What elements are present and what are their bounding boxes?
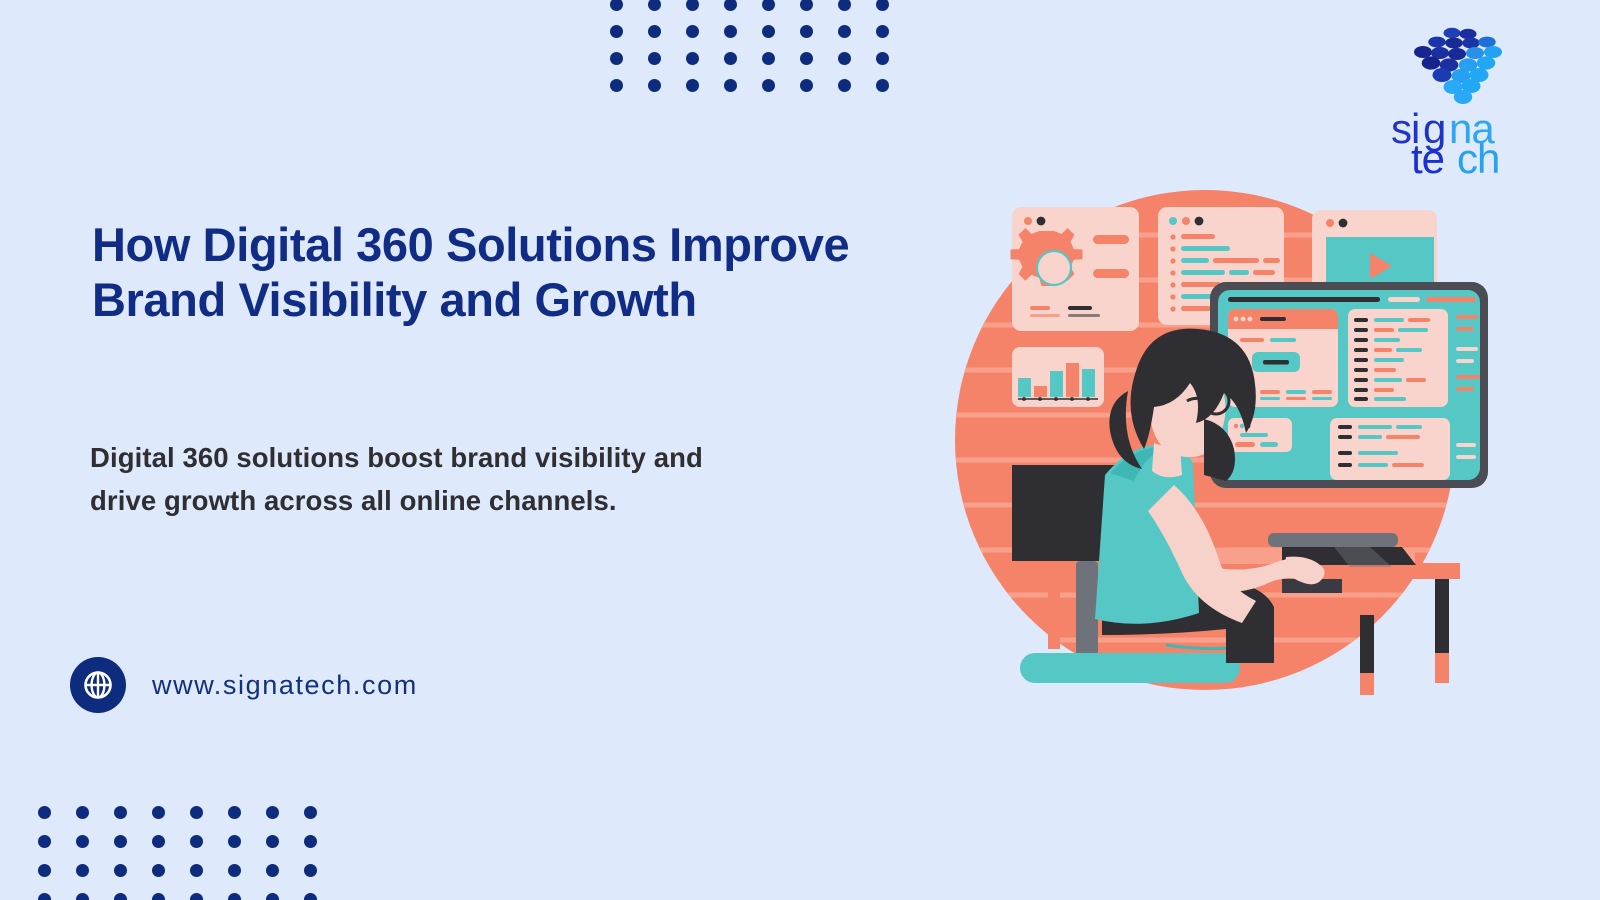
dot xyxy=(152,864,165,877)
dot xyxy=(838,0,851,11)
dot xyxy=(266,893,279,900)
dot xyxy=(838,79,851,92)
dot xyxy=(152,893,165,900)
dot xyxy=(38,864,51,877)
dot xyxy=(228,806,241,819)
dot xyxy=(724,0,737,11)
dot xyxy=(724,79,737,92)
headline-line-2: Brand Visibility and Growth xyxy=(92,273,912,328)
dot xyxy=(38,893,51,900)
dot xyxy=(76,806,89,819)
dot xyxy=(152,806,165,819)
subheading-text: Digital 360 solutions boost brand visibi… xyxy=(90,437,740,522)
dot xyxy=(76,835,89,848)
hero-illustration xyxy=(930,175,1490,705)
dot-grid-top xyxy=(610,0,914,106)
dot xyxy=(228,864,241,877)
dot xyxy=(686,25,699,38)
website-link[interactable]: www.signatech.com xyxy=(70,657,418,713)
dot xyxy=(800,79,813,92)
dot xyxy=(114,835,127,848)
dot xyxy=(114,806,127,819)
dot xyxy=(266,864,279,877)
dot xyxy=(686,52,699,65)
page-title: How Digital 360 Solutions Improve Brand … xyxy=(92,218,912,328)
dot xyxy=(762,79,775,92)
dot xyxy=(800,25,813,38)
dot xyxy=(114,893,127,900)
dot xyxy=(876,0,889,11)
globe-icon xyxy=(70,657,126,713)
dot xyxy=(800,52,813,65)
headline-line-1: How Digital 360 Solutions Improve xyxy=(92,218,912,273)
dot xyxy=(304,806,317,819)
dot xyxy=(76,893,89,900)
dot xyxy=(610,25,623,38)
dot xyxy=(76,864,89,877)
dot xyxy=(610,52,623,65)
dot xyxy=(38,806,51,819)
dot xyxy=(228,893,241,900)
dot xyxy=(724,25,737,38)
dot xyxy=(190,864,203,877)
dot xyxy=(648,79,661,92)
dot xyxy=(686,79,699,92)
dot xyxy=(190,806,203,819)
dot xyxy=(838,25,851,38)
dot xyxy=(190,893,203,900)
dot xyxy=(686,0,699,11)
brand-logo[interactable]: si g na te ch xyxy=(1385,25,1535,175)
dot xyxy=(304,835,317,848)
dot xyxy=(762,25,775,38)
dot xyxy=(724,52,737,65)
dot xyxy=(114,864,127,877)
dot xyxy=(152,835,165,848)
settings-card xyxy=(1011,207,1140,331)
dot xyxy=(304,864,317,877)
dot xyxy=(648,0,661,11)
dot xyxy=(266,806,279,819)
analytics-card xyxy=(1012,347,1104,407)
website-url-text[interactable]: www.signatech.com xyxy=(152,670,418,701)
dot xyxy=(876,52,889,65)
marketing-banner: How Digital 360 Solutions Improve Brand … xyxy=(0,0,1600,900)
dot xyxy=(190,835,203,848)
dot xyxy=(648,25,661,38)
dot-grid-bottom xyxy=(38,806,342,900)
dot xyxy=(610,79,623,92)
dot xyxy=(876,79,889,92)
dot xyxy=(610,0,623,11)
logo-dot-pyramid-icon xyxy=(1385,25,1535,111)
dot xyxy=(762,52,775,65)
dot xyxy=(38,835,51,848)
dot xyxy=(304,893,317,900)
dot xyxy=(876,25,889,38)
logo-wordmark: si g na te ch xyxy=(1385,103,1535,183)
dot xyxy=(228,835,241,848)
dot xyxy=(800,0,813,11)
dot xyxy=(266,835,279,848)
dot xyxy=(762,0,775,11)
dot xyxy=(838,52,851,65)
dot xyxy=(648,52,661,65)
